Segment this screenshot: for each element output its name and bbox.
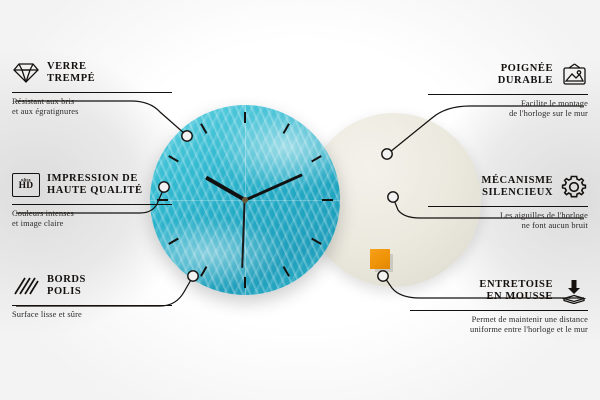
feature-title: MÉCANISME SILENCIEUX: [482, 175, 553, 200]
ultra-hd-icon: ultra HD: [12, 171, 40, 199]
feature-header: BORDS POLIS: [12, 271, 172, 301]
feature-title-line1: POIGNÉE: [498, 63, 553, 76]
feature-title-line1: MÉCANISME: [482, 175, 553, 188]
feature-title: BORDS POLIS: [47, 274, 86, 299]
feature-desc-line1: Couleurs intenses: [12, 209, 172, 219]
clock-face-front: [150, 105, 340, 295]
feature-title-line1: ENTRETOISE: [479, 279, 553, 292]
feature-poignee-durable: POIGNÉE DURABLE Facilite le montage de l…: [428, 60, 588, 120]
feature-desc-line1: Facilite le montage: [428, 99, 588, 109]
feature-description: Surface lisse et sûre: [12, 310, 172, 320]
hour-hand: [205, 176, 246, 202]
feature-divider: [12, 92, 172, 93]
polished-edge-icon: [12, 272, 40, 300]
feature-title: IMPRESSION DE HAUTE QUALITÉ: [47, 173, 143, 198]
feature-header: ultra HD IMPRESSION DE HAUTE QUALITÉ: [12, 170, 172, 200]
feature-desc-line1: Résistant aux bris: [12, 97, 172, 107]
feature-title-line2: DURABLE: [498, 75, 553, 88]
hour-mark: [200, 266, 207, 277]
clock-hub: [242, 197, 248, 203]
feature-desc-line2: uniforme entre l'horloge et le mur: [410, 325, 588, 335]
hour-mark: [283, 266, 290, 277]
minute-hand: [244, 173, 302, 201]
feature-title: VERRE TREMPÉ: [47, 61, 95, 86]
gear-icon: [560, 173, 588, 201]
feature-title-line2: TREMPÉ: [47, 73, 95, 86]
feature-header: ENTRETOISE EN MOUSSE: [410, 276, 588, 306]
feature-description: Permet de maintenir une distance uniform…: [410, 315, 588, 336]
feature-divider: [12, 305, 172, 306]
feature-title-line2: SILENCIEUX: [482, 187, 553, 200]
feature-header: MÉCANISME SILENCIEUX: [428, 172, 588, 202]
feature-divider: [410, 310, 588, 311]
feature-verre-trempe: VERRE TREMPÉ Résistant aux bris et aux é…: [12, 58, 172, 118]
feature-desc-line2: et image claire: [12, 219, 172, 229]
feature-mecanisme-silencieux: MÉCANISME SILENCIEUX Les aiguilles de l'…: [428, 172, 588, 232]
feature-description: Facilite le montage de l'horloge sur le …: [428, 99, 588, 120]
feature-title-line1: BORDS: [47, 274, 86, 287]
hour-mark: [244, 112, 246, 123]
hour-mark: [311, 238, 322, 245]
feature-bords-polis: BORDS POLIS Surface lisse et sûre: [12, 271, 172, 320]
feature-title: ENTRETOISE EN MOUSSE: [479, 279, 553, 304]
feature-desc-line1: Les aiguilles de l'horloge: [428, 211, 588, 221]
feature-header: VERRE TREMPÉ: [12, 58, 172, 88]
feature-title-line2: EN MOUSSE: [479, 291, 553, 304]
feature-divider: [428, 94, 588, 95]
hour-mark: [322, 199, 333, 201]
hour-mark: [168, 155, 179, 162]
feature-header: POIGNÉE DURABLE: [428, 60, 588, 90]
feature-divider: [12, 204, 172, 205]
feature-title-line2: POLIS: [47, 286, 86, 299]
feature-desc-line2: de l'horloge sur le mur: [428, 109, 588, 119]
diamond-icon: [12, 59, 40, 87]
feature-title-line1: IMPRESSION DE: [47, 173, 143, 186]
feature-desc-line1: Surface lisse et sûre: [12, 310, 172, 320]
feature-desc-line2: et aux égratignures: [12, 107, 172, 117]
feature-description: Couleurs intenses et image claire: [12, 209, 172, 230]
foam-spacer-part: [370, 249, 390, 269]
feature-desc-line2: ne font aucun bruit: [428, 221, 588, 231]
feature-divider: [428, 206, 588, 207]
foam-spacer-icon: [560, 277, 588, 305]
hour-mark: [168, 238, 179, 245]
feature-impression-haute-qualite: ultra HD IMPRESSION DE HAUTE QUALITÉ Cou…: [12, 170, 172, 230]
hour-mark: [200, 123, 207, 134]
hour-mark: [244, 277, 246, 288]
hour-mark: [311, 155, 322, 162]
feature-desc-line1: Permet de maintenir une distance: [410, 315, 588, 325]
feature-title: POIGNÉE DURABLE: [498, 63, 553, 88]
feature-entretoise-en-mousse: ENTRETOISE EN MOUSSE Permet de maintenir…: [410, 276, 588, 336]
feature-description: Les aiguilles de l'horloge ne font aucun…: [428, 211, 588, 232]
wall-hanger-icon: [560, 61, 588, 89]
ultra-hd-badge-main: HD: [19, 182, 34, 192]
infographic-canvas: VERRE TREMPÉ Résistant aux bris et aux é…: [0, 0, 600, 400]
feature-title-line2: HAUTE QUALITÉ: [47, 185, 143, 198]
feature-title-line1: VERRE: [47, 61, 95, 74]
feature-description: Résistant aux bris et aux égratignures: [12, 97, 172, 118]
hour-mark: [283, 123, 290, 134]
